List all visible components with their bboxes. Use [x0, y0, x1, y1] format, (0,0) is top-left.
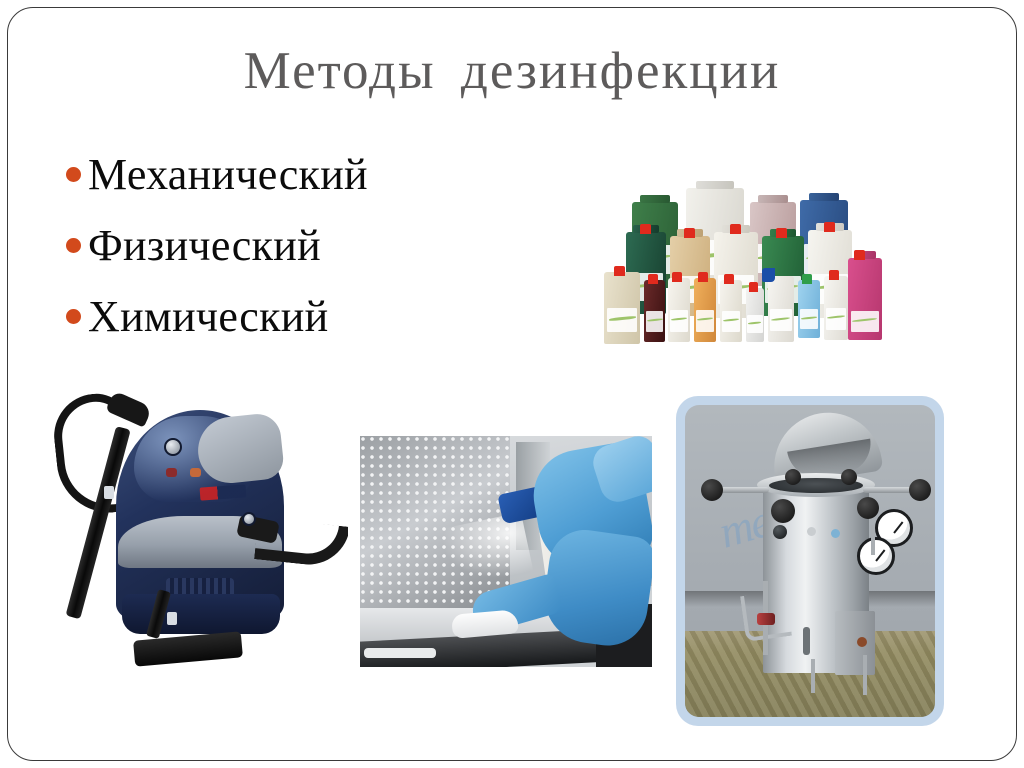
bottle-cap — [724, 274, 734, 284]
bottle-cap — [824, 222, 835, 232]
vacuum-cleaner-image — [30, 380, 348, 676]
list-item-label: Механический — [88, 153, 368, 197]
vacuum-indicator-icon — [190, 468, 201, 477]
bottle-cap — [684, 228, 695, 238]
bottle — [668, 278, 690, 342]
bottle-cap — [648, 274, 658, 284]
clamp-bolt — [785, 469, 801, 485]
sterilizer-image-frame: med — [676, 396, 944, 726]
vacuum-dial-icon — [164, 438, 182, 456]
clamp-bolt — [841, 469, 857, 485]
bottle-cap — [698, 272, 708, 282]
list-item-label: Химический — [88, 295, 328, 339]
bottle-cap — [802, 274, 812, 284]
support-leg — [811, 659, 815, 693]
tank-indicator — [831, 529, 840, 538]
valve-knob[interactable] — [773, 525, 787, 539]
temperature-gauge — [857, 537, 895, 575]
tank-slot — [803, 627, 810, 655]
support-leg — [863, 655, 867, 695]
page-title: Методы дезинфекции — [8, 41, 1016, 101]
clamp-knob[interactable] — [857, 497, 879, 519]
clamp-handle[interactable] — [701, 479, 723, 501]
round-bullet-icon — [66, 167, 81, 182]
list-item[interactable]: Химический — [66, 281, 536, 352]
spray-bottle — [768, 276, 794, 342]
bottle-cap — [730, 224, 741, 234]
bottle — [604, 272, 640, 344]
round-bullet-icon — [66, 238, 81, 253]
list-item[interactable]: Физический — [66, 210, 536, 281]
vacuum-base — [122, 594, 280, 634]
bottle — [694, 278, 716, 342]
bottle-cap — [829, 270, 839, 280]
clamp-handle[interactable] — [909, 479, 931, 501]
bottle-cap — [614, 266, 625, 276]
bottle — [720, 280, 742, 342]
steam-sterilizer-image: med — [685, 405, 935, 717]
round-bullet-icon — [66, 309, 81, 324]
disinfectant-bottles-image — [600, 180, 882, 348]
surface-disinfection-image — [360, 436, 652, 667]
list-item-label: Физический — [88, 224, 321, 268]
bottle — [798, 280, 820, 338]
bottle — [746, 288, 764, 342]
outlet-fitting — [857, 637, 867, 647]
control-box — [835, 611, 875, 675]
bottle — [644, 280, 665, 342]
vacuum-indicator-icon — [166, 468, 177, 477]
bottle-cap — [640, 224, 651, 234]
canister — [848, 258, 882, 340]
vacuum-wand-clip — [167, 612, 177, 625]
bottle-cap — [672, 272, 682, 282]
bottle — [824, 276, 848, 340]
bottle-cap — [854, 250, 865, 260]
vacuum-wand-clip — [104, 486, 114, 499]
slide: Методы дезинфекции Механический Физическ… — [7, 7, 1017, 761]
gauge-pipe — [871, 525, 875, 555]
clamp-knob[interactable] — [771, 499, 795, 523]
bottle-cap — [776, 228, 787, 238]
vacuum-connector-icon — [242, 512, 256, 526]
bottle-cap — [749, 282, 758, 292]
methods-list: Механический Физический Химический — [66, 139, 536, 352]
counter-rail — [364, 648, 436, 658]
spray-trigger-icon — [762, 268, 775, 282]
tap-handle[interactable] — [757, 613, 775, 625]
list-item[interactable]: Механический — [66, 139, 536, 210]
tank-marker — [807, 527, 816, 536]
